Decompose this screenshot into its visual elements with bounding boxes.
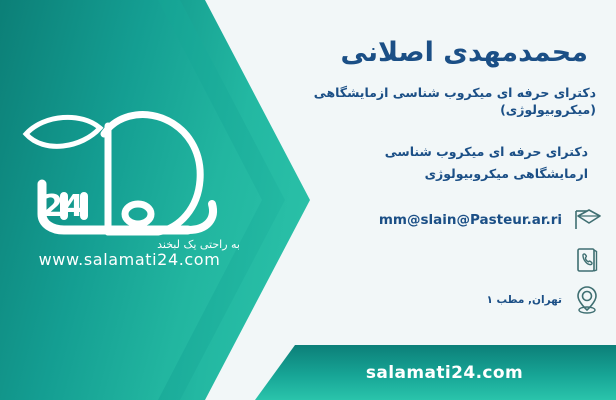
envelope-icon bbox=[572, 204, 602, 236]
phone-book-icon bbox=[572, 244, 602, 276]
brand-logo: 24 به راحتی یک لبخند www.salamati24.com bbox=[12, 104, 247, 279]
contact-row-address[interactable]: تهران, مطب ۱ bbox=[300, 280, 602, 320]
doctor-specialty-main: دکترای حرفه ای میکروب شناسی ازمایشگاهی (… bbox=[300, 84, 602, 119]
doctor-name: محمدمهدی اصلانی bbox=[300, 36, 602, 70]
apple-leaf-logo: 24 به راحتی یک لبخند bbox=[12, 104, 247, 254]
footer-website: salamati24.com bbox=[348, 363, 523, 383]
card-content: محمدمهدی اصلانی دکترای حرفه ای میکروب شن… bbox=[300, 0, 602, 345]
map-pin-icon bbox=[572, 284, 602, 316]
logo-website-url: www.salamati24.com bbox=[12, 250, 247, 269]
doctor-specialty-sub-line1: دکترای حرفه ای میکروب شناسی bbox=[300, 141, 588, 163]
doctor-specialty-sub-line2: ارمایشگاهی میکروبیولوژی bbox=[300, 163, 588, 185]
contact-list: mm@slain@Pasteur.ar.ri bbox=[300, 200, 602, 320]
contact-row-email[interactable]: mm@slain@Pasteur.ar.ri bbox=[300, 200, 602, 240]
contact-row-phone[interactable] bbox=[300, 240, 602, 280]
svg-text:24: 24 bbox=[42, 189, 84, 224]
footer-bar: salamati24.com bbox=[255, 345, 616, 400]
email-value: mm@slain@Pasteur.ar.ri bbox=[379, 212, 562, 228]
address-value: تهران, مطب ۱ bbox=[486, 294, 562, 306]
doctor-specialty-sub: دکترای حرفه ای میکروب شناسی ارمایشگاهی م… bbox=[300, 141, 602, 185]
business-card: 24 به راحتی یک لبخند www.salamati24.com … bbox=[0, 0, 616, 400]
